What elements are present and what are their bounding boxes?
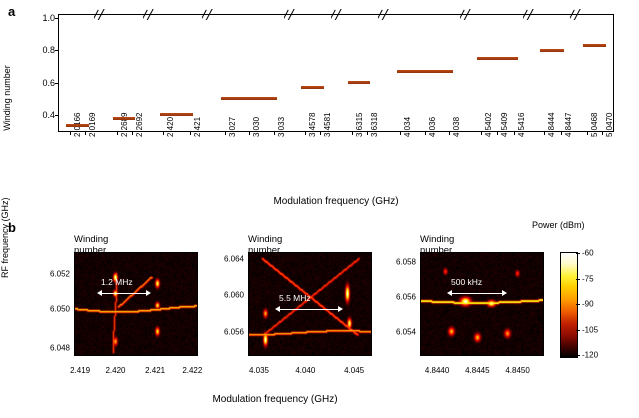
axis-break-mark-3 (284, 9, 297, 20)
panel-a: a Winding number 0.40.60.81.02.01662.016… (0, 0, 639, 218)
panel-a-x-tick-label: 3.4578 (308, 113, 317, 137)
winding-plateau-7 (477, 57, 518, 60)
winding-plateau-0 (66, 124, 88, 127)
panel-a-y-tick-mark (55, 50, 59, 51)
panel-a-x-tick-mark (70, 131, 71, 135)
heatmap-image-2: 500 kHz (420, 252, 544, 356)
axis-break-mark-0 (94, 9, 107, 20)
heatmap-x-tick-mark (193, 355, 194, 356)
colorbar-tick-mark (576, 355, 580, 356)
heatmap-annotation-line-2 (451, 293, 503, 294)
panel-a-x-tick-label: 2.421 (193, 117, 202, 137)
panel-a-x-tick-label: 2.0169 (88, 113, 97, 137)
heatmap-x-tick-label: 4.045 (344, 366, 364, 375)
heatmap-annotation-1: 5.5 MHz (279, 293, 311, 303)
panel-a-y-tick-mark (55, 18, 59, 19)
heatmap-arrow-head-left-1 (275, 306, 280, 312)
winding-plateau-2 (160, 113, 194, 116)
heatmap-x-tick-label: 2.419 (70, 366, 90, 375)
panel-a-x-tick-mark (425, 131, 426, 135)
heatmap-arrow-head-left-0 (97, 290, 102, 296)
panel-a-y-tick-mark (55, 83, 59, 84)
heatmap-arrow-head-right-2 (502, 290, 507, 296)
heatmap-y-tick-mark (248, 296, 249, 297)
heatmap-y-tick-label: 6.048 (50, 343, 70, 352)
panel-a-x-tick-label: 3.033 (277, 117, 286, 137)
panel-a-x-tick-mark (561, 131, 562, 135)
heatmap-y-tick-mark (420, 333, 421, 334)
winding-plateau-5 (348, 81, 370, 84)
panel-a-x-tick-mark (132, 131, 133, 135)
heatmap-arrow-head-left-2 (447, 290, 452, 296)
panel-a-x-tick-label: 4.038 (452, 117, 461, 137)
winding-plateau-6 (397, 70, 453, 73)
heatmap-y-tick-mark (74, 310, 75, 311)
panel-a-x-tick-mark (602, 131, 603, 135)
heatmap-image-0: 1.2 MHz (74, 252, 198, 356)
panel-a-x-tick-label: 3.027 (228, 117, 237, 137)
panel-a-x-tick-mark (274, 131, 275, 135)
panel-a-x-tick-mark (587, 131, 588, 135)
heatmap-y-tick-label: 6.052 (50, 270, 70, 279)
colorbar-tick-mark (576, 330, 580, 331)
axis-break-mark-2 (202, 9, 215, 20)
panel-a-x-tick-mark (400, 131, 401, 135)
heatmap-y-tick-label: 6.056 (396, 292, 416, 301)
panel-a-y-tick-label: 0.8 (42, 45, 55, 55)
heatmap-arrow-head-right-1 (338, 306, 343, 312)
heatmap-x-tick-mark (260, 355, 261, 356)
colorbar-tick-label: -105 (582, 325, 598, 334)
panel-a-x-tick-label: 4.5402 (484, 113, 493, 137)
heatmap-x-tick-mark (478, 355, 479, 356)
panel-a-x-tick-label: 4.034 (403, 117, 412, 137)
heatmap-y-tick-label: 6.064 (224, 255, 244, 264)
heatmap-x-tick-mark (306, 355, 307, 356)
panel-a-y-tick-mark (55, 115, 59, 116)
panel-a-x-tick-label: 5.0468 (590, 113, 599, 137)
panel-a-x-tick-mark (544, 131, 545, 135)
heatmap-x-tick-label: 2.421 (145, 366, 165, 375)
winding-plateau-9 (583, 44, 605, 47)
colorbar-tick-label: -120 (582, 351, 598, 360)
heatmap-x-tick-label: 4.035 (249, 366, 269, 375)
winding-plateau-4 (301, 86, 323, 89)
colorbar-tick-label: -60 (582, 249, 594, 258)
colorbar-tick-mark (576, 279, 580, 280)
axis-break-mark-1 (143, 9, 156, 20)
heatmap-x-tick-mark (355, 355, 356, 356)
panel-a-x-tick-mark (163, 131, 164, 135)
colorbar-tick-label: -75 (582, 274, 594, 283)
panel-a-x-tick-label: 3.6315 (355, 113, 364, 137)
heatmap-x-tick-mark (438, 355, 439, 356)
panel-b-y-axis-label: RF frequency (GHz) (0, 197, 10, 278)
panel-a-x-tick-label: 4.5409 (500, 113, 509, 137)
panel-a-x-tick-mark (352, 131, 353, 135)
panel-a-x-tick-mark (497, 131, 498, 135)
colorbar-tick-mark (576, 253, 580, 254)
panel-a-x-tick-mark (117, 131, 118, 135)
heatmap-canvas-0 (75, 253, 197, 355)
panel-a-x-tick-label: 4.8447 (564, 113, 573, 137)
panel-a-x-tick-mark (320, 131, 321, 135)
heatmap-annotation-line-0 (101, 293, 147, 294)
panel-a-x-tick-mark (449, 131, 450, 135)
heatmap-y-tick-mark (248, 260, 249, 261)
heatmap-x-tick-label: 4.040 (295, 366, 315, 375)
panel-a-y-tick-label: 0.4 (42, 110, 55, 120)
heatmap-y-tick-mark (420, 298, 421, 299)
panel-a-x-tick-label: 5.0470 (605, 113, 614, 137)
panel-a-x-tick-mark (514, 131, 515, 135)
panel-a-x-tick-label: 3.6318 (370, 113, 379, 137)
panel-a-x-tick-mark (190, 131, 191, 135)
colorbar-title: Power (dBm) (532, 220, 585, 230)
panel-a-y-tick-label: 1.0 (42, 13, 55, 23)
heatmap-y-tick-label: 6.056 (224, 327, 244, 336)
heatmap-annotation-2: 500 kHz (451, 277, 482, 287)
heatmap-y-tick-mark (420, 263, 421, 264)
panel-a-x-tick-mark (85, 131, 86, 135)
panel-a-y-tick-label: 0.6 (42, 78, 55, 88)
heatmap-x-tick-mark (81, 355, 82, 356)
heatmap-arrow-head-right-0 (146, 290, 151, 296)
axis-break-mark-6 (460, 9, 473, 20)
panel-a-x-tick-label: 2.2689 (120, 113, 129, 137)
heatmap-x-tick-mark (116, 355, 117, 356)
panel-a-plot-area: 0.40.60.81.02.01662.01692.26892.26922.42… (58, 14, 614, 132)
heatmap-annotation-0: 1.2 MHz (101, 277, 133, 287)
panel-a-x-tick-label: 2.420 (166, 117, 175, 137)
winding-plateau-3 (221, 97, 277, 100)
panel-a-x-tick-label: 4.5416 (517, 113, 526, 137)
heatmap-x-tick-label: 2.420 (105, 366, 125, 375)
panel-a-x-tick-mark (225, 131, 226, 135)
axis-break-mark-7 (523, 9, 536, 20)
heatmap-x-tick-label: 4.8445 (465, 366, 489, 375)
heatmap-y-tick-label: 6.060 (224, 290, 244, 299)
panel-a-x-tick-label: 2.2692 (135, 113, 144, 137)
axis-break-mark-8 (570, 9, 583, 20)
panel-b: b RF frequency (GHz) Winding number = 2/… (0, 216, 639, 418)
axis-break-mark-4 (331, 9, 344, 20)
heatmap-canvas-1 (249, 253, 371, 355)
heatmap-y-tick-mark (248, 333, 249, 334)
panel-a-x-tick-label: 4.036 (428, 117, 437, 137)
colorbar-tick-mark (576, 304, 580, 305)
heatmap-annotation-line-1 (279, 309, 339, 310)
heatmap-canvas-2 (421, 253, 543, 355)
panel-a-x-tick-label: 3.4581 (323, 113, 332, 137)
winding-plateau-8 (540, 49, 564, 52)
panel-a-x-tick-mark (305, 131, 306, 135)
panel-a-label: a (8, 4, 15, 19)
heatmap-y-tick-label: 6.058 (396, 258, 416, 267)
heatmap-y-tick-label: 6.050 (50, 305, 70, 314)
heatmap-y-tick-mark (74, 275, 75, 276)
colorbar-tick-label: -90 (582, 300, 594, 309)
panel-a-x-axis-label: Modulation frequency (GHz) (58, 196, 614, 207)
axis-break-mark-5 (378, 9, 391, 20)
heatmap-x-tick-label: 2.422 (182, 366, 202, 375)
panel-a-x-tick-label: 4.8444 (547, 113, 556, 137)
winding-plateau-1 (113, 117, 135, 120)
panel-a-x-tick-label: 3.030 (252, 117, 261, 137)
heatmap-y-tick-label: 6.054 (396, 327, 416, 336)
panel-a-x-tick-mark (367, 131, 368, 135)
heatmap-x-tick-mark (519, 355, 520, 356)
heatmap-y-tick-mark (74, 349, 75, 350)
heatmap-image-1: 5.5 MHz (248, 252, 372, 356)
colorbar-gradient (560, 252, 578, 358)
heatmap-x-tick-mark (156, 355, 157, 356)
heatmap-x-tick-label: 4.8450 (505, 366, 529, 375)
heatmap-x-tick-label: 4.8440 (425, 366, 449, 375)
panel-b-x-axis-label: Modulation frequency (GHz) (40, 394, 510, 405)
panel-a-x-tick-mark (481, 131, 482, 135)
panel-a-x-tick-mark (249, 131, 250, 135)
